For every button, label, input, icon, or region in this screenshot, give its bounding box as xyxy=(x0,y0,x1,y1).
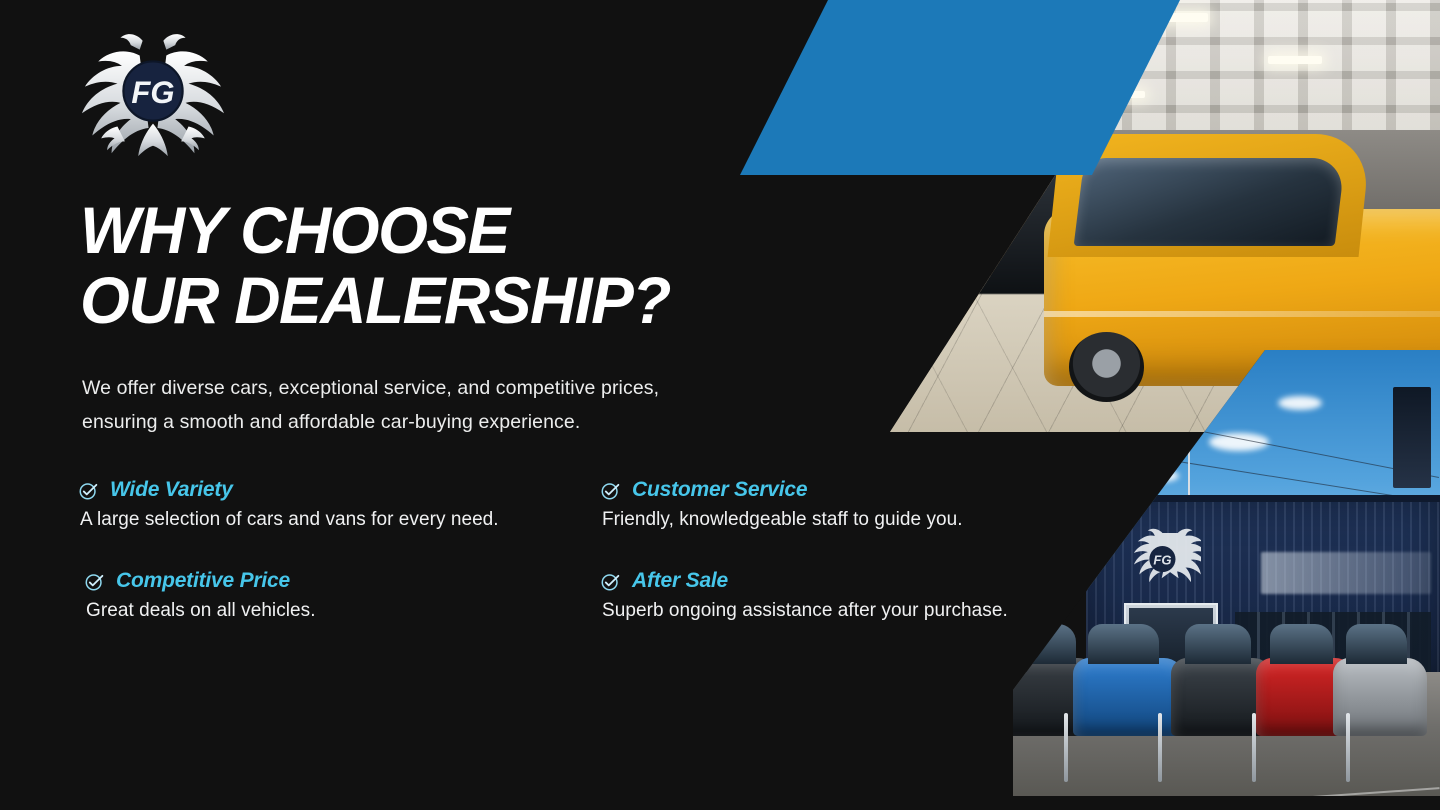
content-column: FG WHY CHOOSE OUR DEALERSHIP? We offer d… xyxy=(0,0,830,810)
feature-description: Great deals on all vehicles. xyxy=(84,600,600,622)
svg-text:FG: FG xyxy=(1153,553,1171,568)
feature-heading: Wide Variety xyxy=(78,478,600,502)
bollard xyxy=(1346,713,1350,782)
car-side-stripe xyxy=(1044,311,1440,316)
check-circle-icon xyxy=(78,480,99,501)
cloud xyxy=(1141,470,1179,482)
feature-heading: Competitive Price xyxy=(84,569,600,593)
feature-description: Superb ongoing assistance after your pur… xyxy=(600,600,1100,622)
feature-title: After Sale xyxy=(632,569,728,593)
check-circle-icon xyxy=(600,480,621,501)
feature-heading: Customer Service xyxy=(600,478,1100,502)
ceiling-light xyxy=(1268,56,1322,64)
svg-text:FG: FG xyxy=(131,75,174,110)
feature-after-sale: After Sale Superb ongoing assistance aft… xyxy=(600,569,1100,622)
bollard xyxy=(1158,713,1162,782)
car-wheel xyxy=(1069,332,1144,402)
bollard xyxy=(1252,713,1256,782)
features-grid: Wide Variety A large selection of cars a… xyxy=(78,478,1093,622)
building-wordmark xyxy=(1261,552,1432,593)
feature-competitive-price: Competitive Price Great deals on all veh… xyxy=(78,569,600,622)
building-fg-eagle-logo: FG xyxy=(1124,520,1201,598)
car-windscreen xyxy=(1074,158,1346,246)
fg-eagle-crest-logo: FG xyxy=(78,20,228,168)
check-circle-icon xyxy=(84,571,105,592)
subheading-text: We offer diverse cars, exceptional servi… xyxy=(82,372,782,439)
page-title: WHY CHOOSE OUR DEALERSHIP? xyxy=(80,196,817,336)
feature-description: Friendly, knowledgeable staff to guide y… xyxy=(600,509,1100,531)
check-circle-icon xyxy=(600,571,621,592)
parked-car xyxy=(1073,658,1184,736)
feature-customer-service: Customer Service Friendly, knowledgeable… xyxy=(600,478,1100,531)
feature-title: Customer Service xyxy=(632,478,807,502)
promotional-slide: FG xyxy=(0,0,1440,810)
feature-title: Wide Variety xyxy=(110,478,233,502)
feature-wide-variety: Wide Variety A large selection of cars a… xyxy=(78,478,600,531)
feature-description: A large selection of cars and vans for e… xyxy=(78,509,600,531)
bollard xyxy=(1064,713,1068,782)
feature-title: Competitive Price xyxy=(116,569,290,593)
roadside-sign xyxy=(1393,387,1431,488)
feature-heading: After Sale xyxy=(600,569,1100,593)
cloud xyxy=(1278,396,1322,410)
